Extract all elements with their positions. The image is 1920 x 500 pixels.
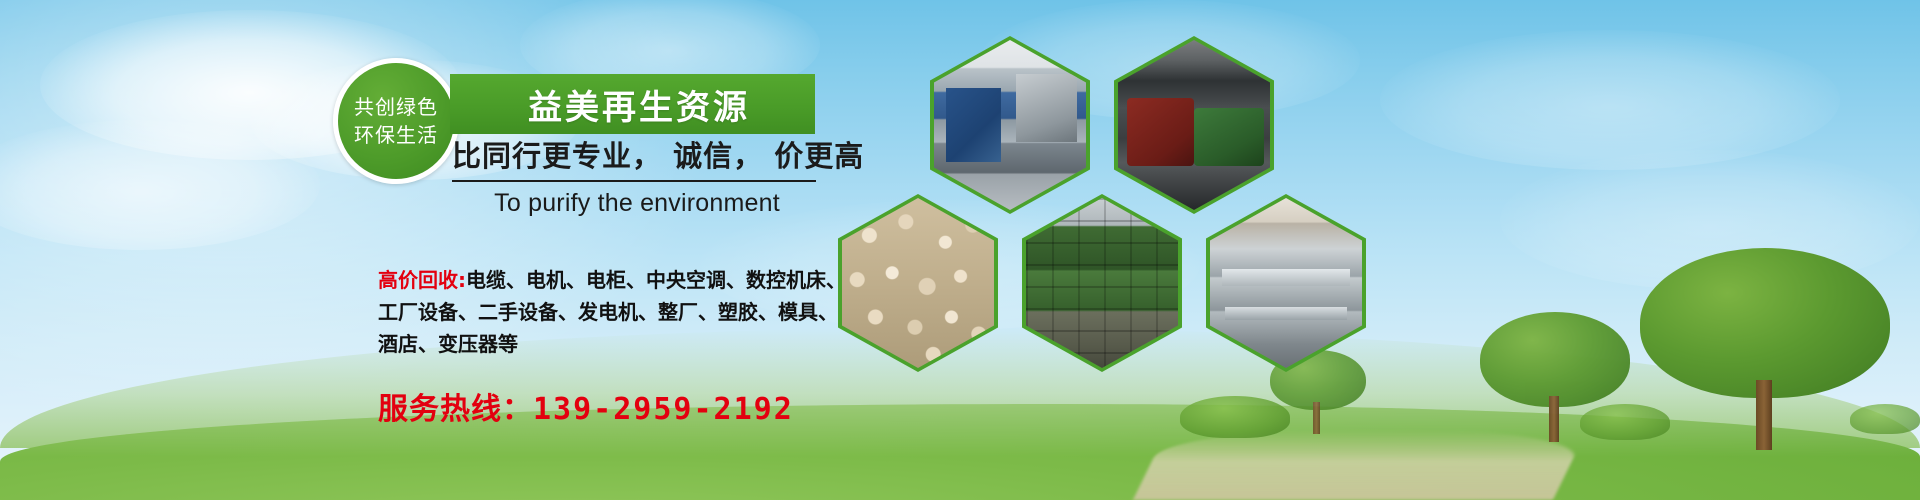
tree-trunk — [1549, 396, 1559, 442]
green-crates-photo — [1022, 194, 1182, 372]
photo-hex-cluster — [830, 18, 1390, 418]
green-crates-image — [1026, 198, 1178, 368]
tree-crown — [1640, 248, 1890, 398]
recycle-line-3: 酒店、变压器等 — [378, 328, 848, 360]
recycle-line-1-text: 电缆、电机、电柜、中央空调、数控机床、 — [466, 268, 846, 292]
kitchen-equipment-image — [1210, 198, 1362, 368]
recycle-line-2: 工厂设备、二手设备、发电机、整厂、塑胶、模具、 — [378, 296, 848, 328]
machine-shop-photo — [930, 36, 1090, 214]
hotline-label: 服务热线： — [378, 392, 533, 427]
plastic-pellets-image — [842, 198, 994, 368]
plastic-pellets-photo — [838, 194, 998, 372]
recycle-label: 高价回收: — [378, 268, 466, 292]
tree-large — [1640, 248, 1890, 448]
slogan-block: 比同行更专业， 诚信， 价更高 To purify the environmen… — [452, 138, 822, 218]
photo-inner — [934, 40, 1086, 210]
eco-slogan-badge: 共创绿色 环保生活 — [333, 58, 459, 184]
machine-shop-image — [934, 40, 1086, 210]
company-name: 益美再生资源 — [528, 80, 750, 129]
hotline-number: 139-2959-2192 — [533, 392, 794, 427]
slogan-english: To purify the environment — [452, 189, 822, 218]
photo-inner — [1210, 198, 1362, 368]
slogan-chinese: 比同行更专业， 诚信， 价更高 — [452, 138, 822, 175]
slogan-divider — [452, 180, 816, 182]
tree-crown — [1480, 312, 1630, 407]
photo-inner — [1026, 198, 1178, 368]
badge-line-1: 共创绿色 — [354, 97, 438, 117]
recycle-line-1: 高价回收:电缆、电机、电柜、中央空调、数控机床、 — [378, 264, 848, 296]
diesel-engine-photo — [1114, 36, 1274, 214]
kitchen-equipment-photo — [1206, 194, 1366, 372]
photo-inner — [1118, 40, 1270, 210]
tree-trunk — [1756, 380, 1772, 450]
badge-line-2: 环保生活 — [354, 125, 438, 145]
banner-stage: 共创绿色 环保生活 益美再生资源 比同行更专业， 诚信， 价更高 To puri… — [0, 0, 1920, 500]
company-name-bar: 益美再生资源 — [450, 74, 815, 134]
hotline-block: 服务热线：139-2959-2192 — [378, 384, 794, 428]
recycle-list: 高价回收:电缆、电机、电柜、中央空调、数控机床、 工厂设备、二手设备、发电机、整… — [378, 264, 848, 360]
tree-medium — [1480, 312, 1630, 442]
photo-inner — [842, 198, 994, 368]
banner-content: 共创绿色 环保生活 益美再生资源 比同行更专业， 诚信， 价更高 To puri… — [0, 0, 900, 500]
diesel-engine-image — [1118, 40, 1270, 210]
